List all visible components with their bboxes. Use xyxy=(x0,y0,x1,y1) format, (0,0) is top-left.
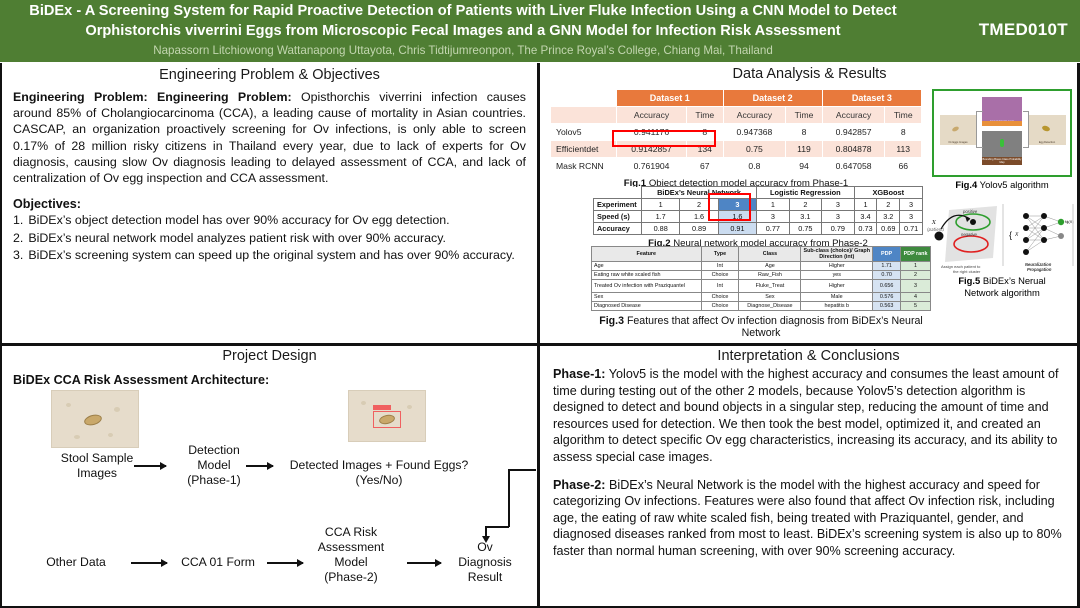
fig1-row-label-maskrcnn: Mask RCNN xyxy=(551,158,617,175)
flow-node-cca-risk-model: CCA Risk Assessment Model (Phase-2) xyxy=(301,525,401,585)
table-cell: 3.2 xyxy=(877,211,900,223)
table-cell-highlighted: 3 xyxy=(718,199,756,211)
arrow-detection-to-detected xyxy=(246,465,273,467)
fig2-group-bidex: BiDEx’s Neural Network xyxy=(642,187,757,199)
fig1-corner-cell xyxy=(551,90,617,107)
table-cell: 67 xyxy=(687,158,724,175)
detection-bbox-label xyxy=(373,405,391,410)
table-cell: 0.69 xyxy=(877,223,900,235)
fig4-input-label: Ov Eggs Images xyxy=(940,141,976,144)
fig4-connector xyxy=(976,111,983,112)
phase2-text: BiDEx’s Neural Network is the model with… xyxy=(553,478,1062,558)
table-cell: 0.88 xyxy=(642,223,680,235)
objective-text: BiDEx’s screening system can speed up th… xyxy=(28,247,514,263)
section-title-project-design: Project Design xyxy=(3,347,536,366)
egg-shape-icon xyxy=(951,126,959,133)
fig4-conv-image: Convolutional Layers xyxy=(982,97,1022,123)
table-row: Yolov5 0.941176 8 0.947368 8 0.942857 8 xyxy=(551,124,922,141)
flow-node-line: CCA 01 Form xyxy=(181,555,255,569)
table-subheader-row: Accuracy Time Accuracy Time Accuracy Tim… xyxy=(551,107,922,124)
fig3-caption-prefix: Fig.3 xyxy=(599,315,624,327)
fig4-connector xyxy=(976,111,977,148)
table-cell: Fluke_Treat xyxy=(739,280,801,293)
svg-text:(patient): (patient) xyxy=(927,227,945,232)
fig1-col-time-3: Time xyxy=(885,107,922,124)
table-cell: 0.576 xyxy=(873,293,901,302)
table-cell: 0.89 xyxy=(680,223,718,235)
debris-icon xyxy=(108,433,113,437)
table-header-row: BiDEx’s Neural Network Logistic Regressi… xyxy=(594,187,923,199)
fig4-class-bar: Bounding Boxes Class Probability Map xyxy=(982,157,1022,165)
table-cell: 0.647058 xyxy=(822,158,885,175)
table-cell: 0.656 xyxy=(873,280,901,293)
table-cell: Higher xyxy=(801,280,873,293)
table-cell: 0.804878 xyxy=(822,141,885,158)
fig4-grid-image xyxy=(982,131,1022,157)
table-cell: 3.1 xyxy=(789,211,822,223)
debris-icon xyxy=(361,401,366,405)
section-title-engineering: Engineering Problem & Objectives xyxy=(13,66,526,85)
table-cell: Age xyxy=(592,262,702,271)
table-cell: Int xyxy=(701,280,739,293)
table-cell: 1.6 xyxy=(680,211,718,223)
fig4-yolov5-diagram: Ov Eggs Images Convolutional Layers Boun… xyxy=(932,89,1072,177)
elbow-top-segment xyxy=(508,469,536,471)
flow-node-line: Detected Images + Found Eggs? xyxy=(290,458,469,472)
elbow-bottom-segment xyxy=(485,526,509,528)
flow-node-line: (Yes/No) xyxy=(356,473,403,487)
fig4-caption-prefix: Fig.4 xyxy=(955,179,977,190)
svg-text:the right cluster: the right cluster xyxy=(953,269,981,274)
fig1-col-accuracy-3: Accuracy xyxy=(822,107,885,124)
fig3-table-wrapper: Feature Type Class Sub-class (choice)/ G… xyxy=(591,246,931,339)
table-cell: 5 xyxy=(901,302,931,311)
vertical-divider xyxy=(537,63,540,608)
table-cell: 119 xyxy=(786,141,823,158)
fig5-svg: X (patient) positive negative Assign eac… xyxy=(927,202,1077,274)
fig1-col-time-1: Time xyxy=(687,107,724,124)
table-cell: Choice xyxy=(701,302,739,311)
engineering-problem-paragraph: Engineering Problem: Engineering Problem… xyxy=(13,89,526,186)
table-row: Diagnosed Disease Choice Diagnose_Diseas… xyxy=(592,302,931,311)
table-cell: 0.75 xyxy=(789,223,822,235)
fig3-caption-text: Features that affect Ov infection diagno… xyxy=(627,315,923,339)
table-cell: Diagnosed Disease xyxy=(592,302,702,311)
objective-number: 2. xyxy=(13,230,23,246)
fig5-caption-line1: BiDEx’s Nerual xyxy=(983,275,1046,286)
flow-node-detected-images: Detected Images + Found Eggs? (Yes/No) xyxy=(269,458,489,488)
elbow-right-segment xyxy=(508,469,510,527)
fig4-conv-bar xyxy=(982,121,1022,126)
fig2-group-xgboost: XGBoost xyxy=(854,187,922,199)
table-cell: 3 xyxy=(822,211,855,223)
fig5-caption: Fig.5 BiDEx’s Nerual Network algorithm xyxy=(927,275,1077,299)
section-title-interpretation: Interpretation & Conclusions xyxy=(553,347,1064,366)
arrow-cca01-to-risk xyxy=(267,562,303,564)
fig3-col-pdp: PDP xyxy=(873,247,901,262)
fig1-col-time-2: Time xyxy=(786,107,823,124)
fig3-col-feature: Feature xyxy=(592,247,702,262)
table-cell: 0.75 xyxy=(723,141,786,158)
poster-authors: Napassorn Litchiowong Wattanapong Uttayo… xyxy=(8,43,918,59)
table-cell: 1.7 xyxy=(642,211,680,223)
table-cell: Sex xyxy=(739,293,801,302)
left-border xyxy=(0,63,2,608)
fig5-caption-prefix: Fig.5 xyxy=(958,275,980,286)
table-cell: 0.77 xyxy=(757,223,790,235)
list-item: 3. BiDEx’s screening system can speed up… xyxy=(13,247,526,263)
table-cell: 1 xyxy=(757,199,790,211)
table-cell: Sex xyxy=(592,293,702,302)
table-row: Efficientdet 0.9142857 134 0.75 119 0.80… xyxy=(551,141,922,158)
table-cell: 94 xyxy=(786,158,823,175)
fig2-table-wrapper: BiDEx’s Neural Network Logistic Regressi… xyxy=(593,186,923,249)
fig4-caption-text: Yolov5 algorithm xyxy=(980,179,1049,190)
table-cell: Choice xyxy=(701,293,739,302)
fig2-row-label-speed: Speed (s) xyxy=(594,211,642,223)
table-cell-highlighted: 0.91 xyxy=(718,223,756,235)
fig4-input-image: Ov Eggs Images xyxy=(940,115,976,145)
phase2-label: Phase-2: xyxy=(553,478,606,492)
debris-icon xyxy=(114,407,120,412)
debris-icon xyxy=(74,435,80,439)
table-header-row: Dataset 1 Dataset 2 Dataset 3 xyxy=(551,90,922,107)
fig2-corner-cell xyxy=(594,187,642,199)
flow-node-line: (Phase-1) xyxy=(187,473,241,487)
fig2-group-logreg: Logistic Regression xyxy=(757,187,855,199)
flow-node-line: CCA Risk xyxy=(325,525,377,539)
objective-text: BiDEx’s object detection model has over … xyxy=(28,212,449,228)
svg-text:{: { xyxy=(1009,230,1012,240)
phase2-paragraph: Phase-2: BiDEx’s Neural Network is the m… xyxy=(553,477,1064,560)
svg-text:positive: positive xyxy=(962,209,978,214)
table-cell: 0.73 xyxy=(854,223,877,235)
panel-data-analysis: Data Analysis & Results Dataset 1 Datase… xyxy=(541,65,1078,341)
list-item: 2. BiDEx’s neural network model analyzes… xyxy=(13,230,526,246)
fig1-table: Dataset 1 Dataset 2 Dataset 3 Accuracy T… xyxy=(550,89,922,175)
flow-node-line: Assessment xyxy=(318,540,384,554)
flow-node-other-data: Other Data xyxy=(21,555,131,570)
table-cell: yes xyxy=(801,271,873,280)
flow-node-ov-diagnosis-result: Ov Diagnosis Result xyxy=(441,540,529,585)
table-cell: 1 xyxy=(854,199,877,211)
fig1-corner-cell-2 xyxy=(551,107,617,124)
table-cell: 66 xyxy=(885,158,922,175)
architecture-heading: BiDEx CCA Risk Assessment Architecture: xyxy=(13,373,269,387)
table-cell: 0.941176 xyxy=(617,124,687,141)
table-cell: 1 xyxy=(642,199,680,211)
fig3-col-class: Class xyxy=(739,247,801,262)
flow-node-line: (Phase-2) xyxy=(324,570,378,584)
fig3-col-type: Type xyxy=(701,247,739,262)
table-cell: 0.8 xyxy=(723,158,786,175)
table-cell: 2 xyxy=(789,199,822,211)
poster-title-line-2: Orphistorchis viverrini Eggs from Micros… xyxy=(8,21,918,41)
table-cell: 8 xyxy=(885,124,922,141)
engineering-problem-body: Opisthorchis viverrini infection causes … xyxy=(13,90,526,185)
table-cell: 113 xyxy=(885,141,922,158)
objectives-heading: Objectives: xyxy=(13,197,526,211)
fig3-col-pdp-rank: PDP rank xyxy=(901,247,931,262)
poster-title-line-1: BiDEx - A Screening System for Rapid Pro… xyxy=(8,1,918,21)
flow-node-line: Detection xyxy=(188,443,240,457)
table-cell: 3.4 xyxy=(854,211,877,223)
table-cell: Higher xyxy=(801,262,873,271)
svg-text:X: X xyxy=(931,220,937,226)
table-row: Age Int Age Higher 1.71 1 xyxy=(592,262,931,271)
egg-shape-icon xyxy=(1041,125,1050,132)
table-cell: 0.947368 xyxy=(723,124,786,141)
horizontal-divider xyxy=(0,343,1080,346)
table-cell: 3 xyxy=(757,211,790,223)
table-cell: 0.79 xyxy=(822,223,855,235)
table-cell-highlighted: 1.6 xyxy=(718,211,756,223)
section-title-data-analysis: Data Analysis & Results xyxy=(541,65,1078,84)
flow-node-line: Stool Sample xyxy=(61,451,134,465)
arrow-stool-to-detection xyxy=(134,465,166,467)
table-cell: Diagnose_Disease xyxy=(739,302,801,311)
flow-node-line: Images xyxy=(77,466,117,480)
table-cell: 3 xyxy=(822,199,855,211)
fig1-group-dataset2: Dataset 2 xyxy=(723,90,822,107)
fig4-connector xyxy=(1028,111,1029,148)
table-row: Experiment 1 2 3 1 2 3 1 2 3 xyxy=(594,199,923,211)
debris-icon xyxy=(407,405,412,409)
fig1-table-wrapper: Dataset 1 Dataset 2 Dataset 3 Accuracy T… xyxy=(550,89,922,189)
flow-node-cca01-form: CCA 01 Form xyxy=(163,555,273,570)
table-cell: 0.942857 xyxy=(822,124,885,141)
table-cell: 0.9142857 xyxy=(617,141,687,158)
poster-header: BiDEx - A Screening System for Rapid Pro… xyxy=(0,0,1080,62)
table-cell: 4 xyxy=(901,293,931,302)
svg-text:negative: negative xyxy=(961,232,978,237)
objective-text: BiDEx’s neural network model analyzes pa… xyxy=(28,230,446,246)
table-cell: hepatitis b xyxy=(801,302,873,311)
flow-node-line: Other Data xyxy=(46,555,106,569)
fig3-col-subclass: Sub-class (choice)/ Graph Direction (int… xyxy=(801,247,873,262)
fig2-row-label-experiment: Experiment xyxy=(594,199,642,211)
objective-number: 1. xyxy=(13,212,23,228)
table-cell: Choice xyxy=(701,271,739,280)
fig5-caption-line2: Network algorithm xyxy=(964,287,1040,298)
table-cell: 2 xyxy=(680,199,718,211)
flow-node-line: Model xyxy=(197,458,230,472)
table-cell: 1.71 xyxy=(873,262,901,271)
flow-node-line: Model xyxy=(334,555,367,569)
arrow-otherdata-to-cca01 xyxy=(131,562,167,564)
panel-engineering-problem: Engineering Problem & Objectives Enginee… xyxy=(3,65,536,341)
fig4-connector xyxy=(976,147,983,148)
debris-icon xyxy=(66,403,71,407)
detected-sample-image xyxy=(348,390,426,442)
table-cell: 1 xyxy=(901,262,931,271)
arrow-risk-to-result xyxy=(407,562,441,564)
table-cell: 134 xyxy=(687,141,724,158)
panel-interpretation: Interpretation & Conclusions Phase-1: Yo… xyxy=(541,347,1078,606)
table-row: Mask RCNN 0.761904 67 0.8 94 0.647058 66 xyxy=(551,158,922,175)
table-cell: 0.761904 xyxy=(617,158,687,175)
fig1-group-dataset1: Dataset 1 xyxy=(617,90,724,107)
phase1-text: Yolov5 is the model with the highest acc… xyxy=(553,367,1058,464)
objective-number: 3. xyxy=(13,247,23,263)
flow-node-line: Result xyxy=(468,570,503,584)
table-row: Eating raw white scaled fish Choice Raw_… xyxy=(592,271,931,280)
table-cell: Int xyxy=(701,262,739,271)
table-cell: 2 xyxy=(877,199,900,211)
table-cell: 2 xyxy=(901,271,931,280)
table-cell: 0.70 xyxy=(873,271,901,280)
fig1-row-label-yolov5: Yolov5 xyxy=(551,124,617,141)
table-cell: 0.563 xyxy=(873,302,901,311)
fig2-table: BiDEx’s Neural Network Logistic Regressi… xyxy=(593,186,923,235)
table-cell: 3 xyxy=(900,199,923,211)
stool-sample-image xyxy=(51,390,139,448)
fig4-caption: Fig.4 Yolov5 algorithm xyxy=(932,179,1072,190)
fig5-neural-network-diagram: X (patient) positive negative Assign eac… xyxy=(927,202,1077,274)
fig1-row-label-efficientdet: Efficientdet xyxy=(551,141,617,158)
table-cell: Male xyxy=(801,293,873,302)
poster-title: BiDEx - A Screening System for Rapid Pro… xyxy=(8,1,918,41)
fig1-group-dataset3: Dataset 3 xyxy=(822,90,921,107)
table-cell: 8 xyxy=(687,124,724,141)
table-header-row: Feature Type Class Sub-class (choice)/ G… xyxy=(592,247,931,262)
detected-egg-icon xyxy=(1000,139,1004,147)
table-cell: Age xyxy=(739,262,801,271)
poster-code-badge: TMED010T xyxy=(979,20,1068,40)
elbow-arrowhead xyxy=(482,536,490,543)
egg-shape-icon xyxy=(83,413,103,427)
panel-project-design: Project Design BiDEx CCA Risk Assessment… xyxy=(3,347,536,606)
fig2-row-label-accuracy: Accuracy xyxy=(594,223,642,235)
table-row: Speed (s) 1.7 1.6 1.6 3 3.1 3 3.4 3.2 3 xyxy=(594,211,923,223)
svg-text:X: X xyxy=(1014,232,1019,238)
table-cell: Raw_Fish xyxy=(739,271,801,280)
flow-node-line: Diagnosis xyxy=(458,555,512,569)
fig1-col-accuracy-1: Accuracy xyxy=(617,107,687,124)
fig3-caption: Fig.3 Features that affect Ov infection … xyxy=(591,315,931,339)
table-row: Accuracy 0.88 0.89 0.91 0.77 0.75 0.79 0… xyxy=(594,223,923,235)
phase1-label: Phase-1: xyxy=(553,367,606,381)
fig3-table: Feature Type Class Sub-class (choice)/ G… xyxy=(591,246,931,311)
fig4-output-label: Egg Detection xyxy=(1028,141,1066,144)
objectives-list: 1. BiDEx’s object detection model has ov… xyxy=(13,212,526,263)
svg-text:Propagation: Propagation xyxy=(1027,267,1052,272)
fig1-col-accuracy-2: Accuracy xyxy=(723,107,786,124)
table-cell: 3 xyxy=(901,280,931,293)
table-cell: 8 xyxy=(786,124,823,141)
table-cell: Eating raw white scaled fish xyxy=(592,271,702,280)
table-row: Sex Choice Sex Male 0.576 4 xyxy=(592,293,931,302)
engineering-problem-label: Engineering Problem: Engineering Problem… xyxy=(13,90,292,104)
table-cell: 0.71 xyxy=(900,223,923,235)
fig4-output-image: Egg Detection xyxy=(1028,115,1066,145)
table-cell: 3 xyxy=(900,211,923,223)
fig4-class-label: Bounding Boxes Class Probability Map xyxy=(982,158,1022,164)
list-item: 1. BiDEx’s object detection model has ov… xyxy=(13,212,526,228)
table-cell: Treated Ov infection with Praziquantel xyxy=(592,280,702,293)
phase1-paragraph: Phase-1: Yolov5 is the model with the hi… xyxy=(553,366,1064,466)
table-row: Treated Ov infection with Praziquantel I… xyxy=(592,280,931,293)
